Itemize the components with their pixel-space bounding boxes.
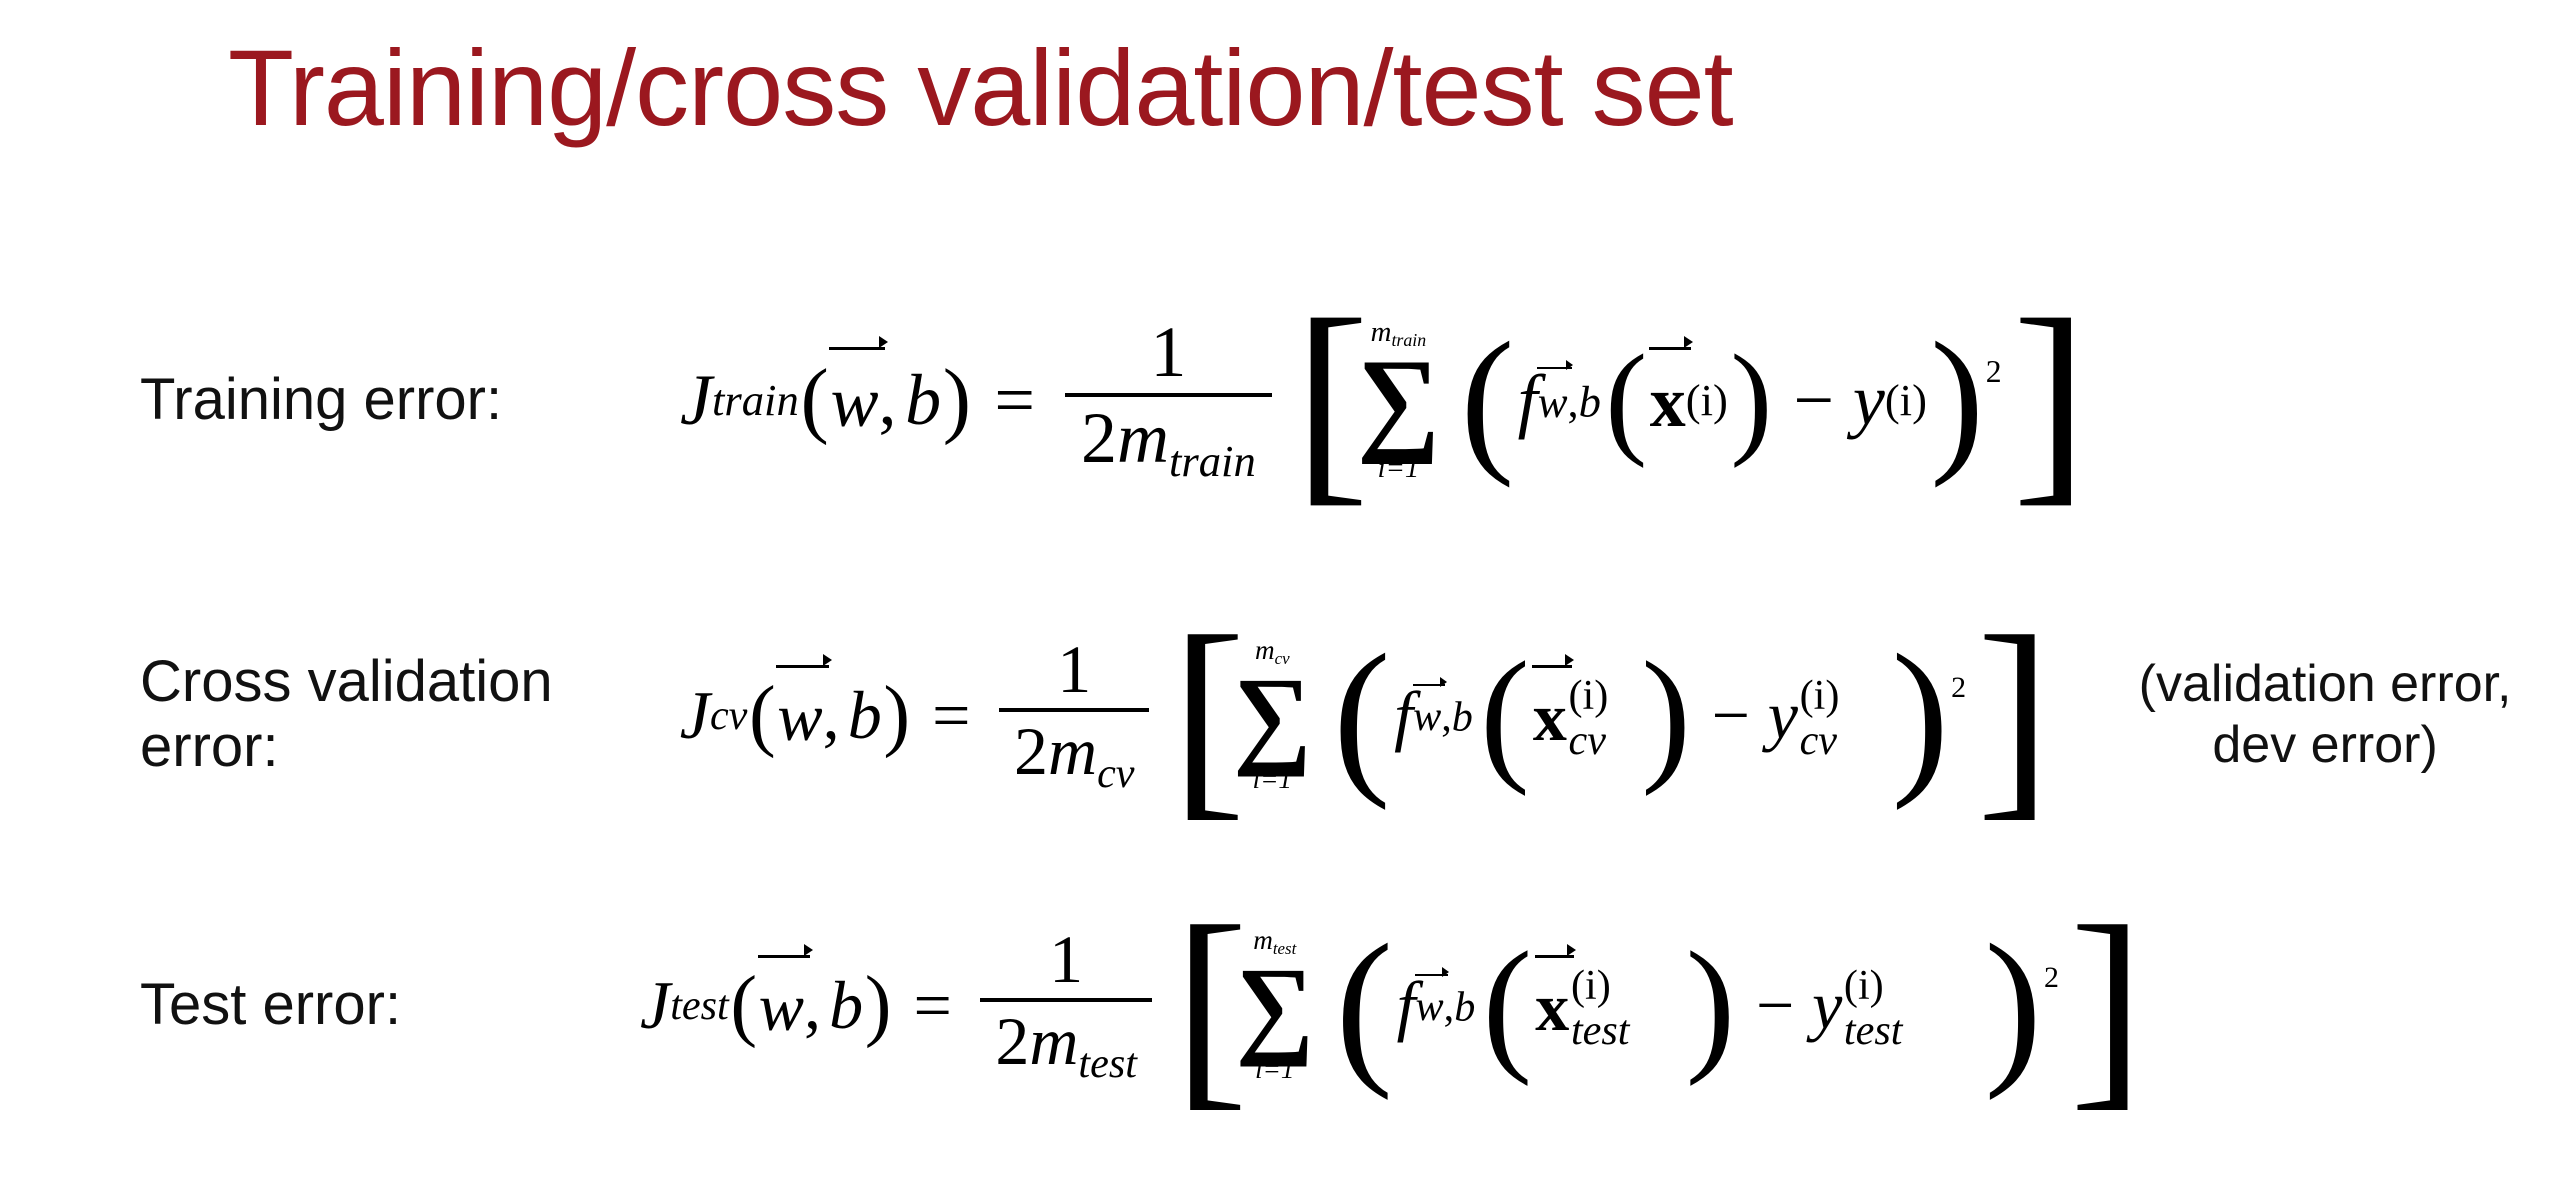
equals-sign: = <box>905 966 960 1045</box>
cross-validation-alias-note: (validation error, dev error) <box>2090 654 2557 777</box>
fraction-denominator: 2mtest <box>980 1002 1152 1086</box>
fraction-numerator: 1 <box>1135 315 1203 393</box>
x-vector: x <box>1533 673 1567 757</box>
input-paren-open: ( <box>1605 348 1647 451</box>
arg-paren-open: ( <box>730 972 757 1038</box>
arg-paren-open: ( <box>800 365 828 435</box>
cost-symbol: J <box>680 359 712 442</box>
page-title: Training/cross validation/test set <box>228 18 1733 158</box>
summation: mcv ∑ i=1 <box>1233 637 1312 793</box>
input-paren-close: ) <box>1641 654 1691 777</box>
summation-lower-limit: i=1 <box>1253 766 1293 793</box>
target-symbol: y <box>1812 966 1842 1045</box>
fraction-one-over-two-m: 1 2mtrain <box>1065 315 1271 485</box>
term-paren-open: ( <box>1335 934 1393 1076</box>
w-vector-subscript: w <box>1538 372 1568 428</box>
x-superscript: (i) <box>1686 374 1728 426</box>
cost-symbol: J <box>680 676 710 755</box>
w-vector-subscript: w <box>1413 689 1441 741</box>
target-superscript: (i) <box>1885 374 1927 426</box>
x-vector: x <box>1535 963 1569 1047</box>
sigma-icon: ∑ <box>1235 956 1314 1057</box>
model-function-symbol: f <box>1518 359 1538 442</box>
model-function-symbol: f <box>1394 676 1413 755</box>
x-sub-sup: (i)cv <box>1568 675 1608 750</box>
summation: mtrain ∑ i=1 <box>1357 318 1440 483</box>
cost-subscript: test <box>670 981 729 1030</box>
arg-paren-close: ) <box>943 365 971 435</box>
fraction-one-over-two-m: 1 2mtest <box>980 924 1152 1086</box>
cost-symbol: J <box>640 966 670 1045</box>
term-paren-close: ) <box>1984 934 2042 1076</box>
model-function-subscript: w,b <box>1413 689 1473 741</box>
model-function-symbol: f <box>1397 966 1416 1045</box>
minus-sign: − <box>1785 359 1843 442</box>
arg-comma: , <box>823 676 840 755</box>
formula-cross-validation: Jcv ( w , b ) = 1 2mcv [ mcv ∑ i=1 ( f w… <box>680 623 2060 807</box>
summation-lower-limit: i=1 <box>1255 1056 1295 1083</box>
x-vector: x <box>1650 356 1686 445</box>
row-label-test: Test error: <box>140 973 640 1038</box>
input-paren-open: ( <box>1482 944 1532 1067</box>
fraction-numerator: 1 <box>1042 634 1106 707</box>
input-paren-close: ) <box>1730 348 1772 451</box>
bracket-close: ] <box>1977 623 2052 807</box>
cost-subscript: cv <box>710 691 747 740</box>
fraction-one-over-two-m: 1 2mcv <box>999 634 1149 796</box>
minus-sign: − <box>1704 676 1759 755</box>
arg-comma: , <box>878 359 896 442</box>
term-paren-open: ( <box>1460 334 1514 467</box>
input-paren-close: ) <box>1686 944 1736 1067</box>
term-paren-open: ( <box>1333 644 1391 786</box>
arg-comma: , <box>804 966 821 1045</box>
y-sub-sup: (i)test <box>1844 965 1884 1040</box>
summation: mtest ∑ i=1 <box>1235 927 1314 1083</box>
formula-test: Jtest ( w , b ) = 1 2mtest [ mtest ∑ i=1… <box>640 913 2153 1097</box>
cost-subscript: train <box>712 374 799 426</box>
term-paren-close: ) <box>1930 334 1984 467</box>
fraction-denominator: 2mtrain <box>1065 397 1271 485</box>
equals-sign: = <box>924 676 979 755</box>
square-exponent: 2 <box>1986 354 2002 390</box>
x-sub-sup: (i)test <box>1571 965 1611 1040</box>
model-function-subscript: w,b <box>1416 979 1476 1031</box>
arg-paren-close: ) <box>865 972 892 1038</box>
input-paren-open: ( <box>1480 654 1530 777</box>
w-vector: w <box>777 673 822 757</box>
bracket-close: ] <box>2069 913 2144 1097</box>
square-exponent: 2 <box>1951 671 1966 705</box>
formula-row-test: Test error: Jtest ( w , b ) = 1 2mtest [… <box>140 890 2440 1120</box>
sigma-icon: ∑ <box>1357 347 1440 454</box>
formula-row-cross-validation: Cross validation error: Jcv ( w , b ) = … <box>140 600 2557 830</box>
formula-training: Jtrain ( w , b ) = 1 2mtrain [ mtrain ∑ … <box>680 307 2097 493</box>
minus-sign: − <box>1748 966 1803 1045</box>
fraction-numerator: 1 <box>1034 924 1098 997</box>
w-vector: w <box>759 963 804 1047</box>
arg-paren-open: ( <box>749 682 776 748</box>
target-symbol: y <box>1768 676 1798 755</box>
row-label-cross-validation: Cross validation error: <box>140 650 680 780</box>
term-paren-close: ) <box>1891 644 1949 786</box>
square-exponent: 2 <box>2044 961 2059 995</box>
bracket-close: ] <box>2012 307 2088 493</box>
bias-symbol: b <box>848 676 882 755</box>
summation-lower-limit: i=1 <box>1377 454 1419 483</box>
w-vector-subscript: w <box>1416 979 1444 1031</box>
sigma-icon: ∑ <box>1233 666 1312 767</box>
equals-sign: = <box>986 359 1044 442</box>
w-vector: w <box>830 356 878 445</box>
fraction-denominator: 2mcv <box>999 712 1149 796</box>
formula-row-training: Training error: Jtrain ( w , b ) = 1 2mt… <box>140 300 2420 500</box>
arg-paren-close: ) <box>883 682 910 748</box>
y-sub-sup: (i)cv <box>1800 675 1840 750</box>
bias-symbol: b <box>829 966 863 1045</box>
model-function-subscript: w,b <box>1538 372 1601 428</box>
bias-symbol: b <box>905 359 941 442</box>
row-label-training: Training error: <box>140 368 680 433</box>
target-symbol: y <box>1853 359 1885 442</box>
